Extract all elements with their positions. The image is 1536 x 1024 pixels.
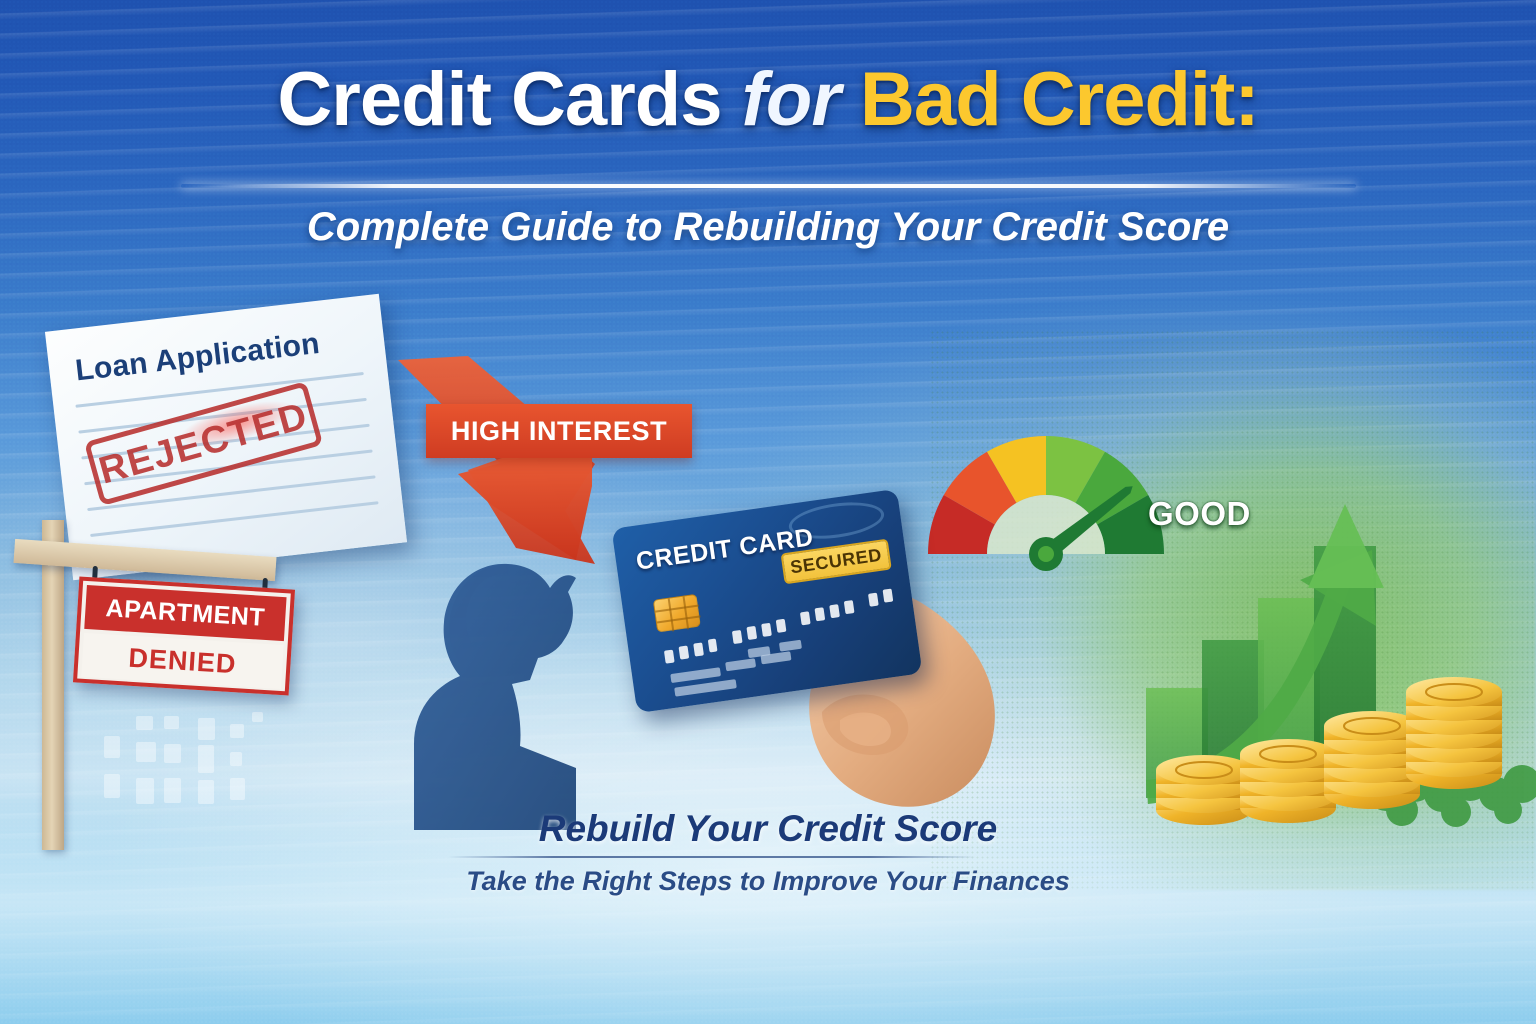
infographic-canvas: Credit Cards for Bad Credit: Complete Gu…	[0, 0, 1536, 1024]
high-interest-label: HIGH INTEREST	[426, 404, 692, 458]
title-primary: Credit Cards	[277, 57, 721, 142]
footer-caption-title: Rebuild Your Credit Score	[0, 808, 1536, 850]
title-connector: for	[742, 57, 840, 142]
sign-post-vertical	[42, 520, 64, 850]
secured-credit-card[interactable]: CREDIT CARD SECURED	[611, 489, 922, 713]
title-divider	[181, 184, 1356, 188]
emv-chip-icon	[653, 594, 701, 633]
footer-divider	[448, 856, 976, 858]
footer-caption-subtitle: Take the Right Steps to Improve Your Fin…	[0, 866, 1536, 897]
loan-application-document: Loan Application REJECTED	[45, 294, 407, 580]
coin-stack-3	[1324, 711, 1420, 809]
coin-stack-4	[1406, 677, 1502, 789]
worried-person-icon	[362, 530, 622, 830]
sign-line-apartment: APARTMENT	[84, 585, 286, 641]
page-title: Credit Cards for Bad Credit:	[0, 62, 1536, 138]
card-face: CREDIT CARD SECURED	[611, 489, 922, 713]
document-title: Loan Application	[74, 327, 322, 389]
title-highlight: Bad Credit:	[860, 57, 1259, 142]
apartment-denied-sign: APARTMENT DENIED	[73, 577, 295, 696]
page-subtitle: Complete Guide to Rebuilding Your Credit…	[0, 205, 1536, 250]
sign-line-denied: DENIED	[81, 633, 283, 689]
